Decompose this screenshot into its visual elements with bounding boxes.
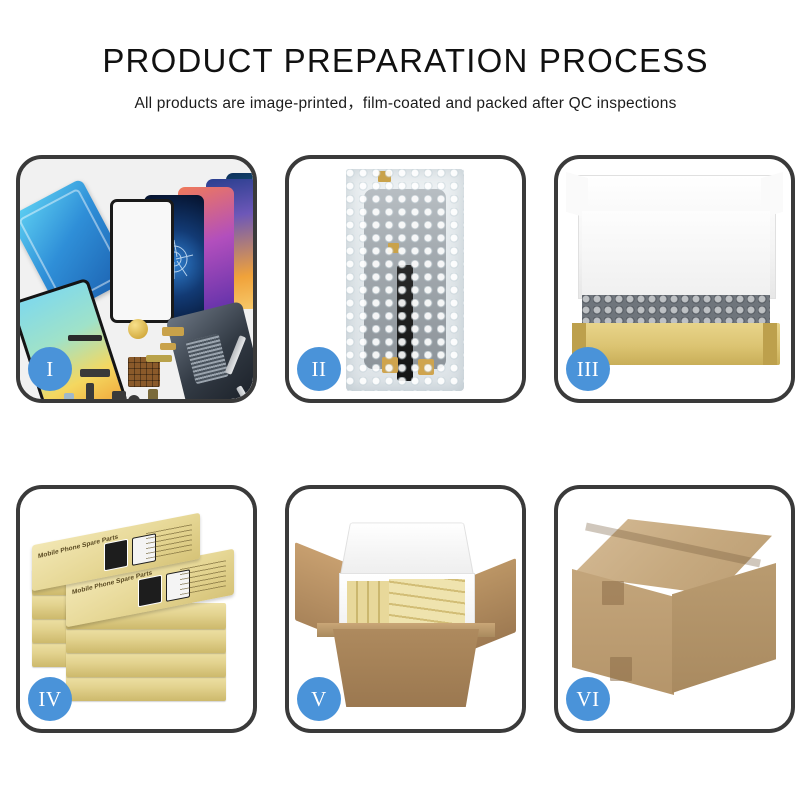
- process-step-panel-2: II: [285, 155, 526, 403]
- stacked-box-f2: [66, 651, 226, 677]
- battery-connector-part: [148, 389, 158, 399]
- white-foam-sheet: [582, 211, 770, 295]
- earpiece-part: [68, 335, 102, 341]
- header: PRODUCT PREPARATION PROCESS All products…: [0, 0, 811, 113]
- product-preparation-infographic: PRODUCT PREPARATION PROCESS All products…: [0, 0, 811, 811]
- gold-speaker-part: [128, 319, 148, 339]
- lid-spec-lines-front: [180, 558, 226, 595]
- white-glass-panel: [110, 199, 174, 323]
- step-badge-4: IV: [28, 677, 72, 721]
- step-badge-1: I: [28, 347, 72, 391]
- flex-connector-part-1: [162, 327, 184, 336]
- bubble-texture: [346, 169, 464, 391]
- process-step-panel-5: V: [285, 485, 526, 733]
- bubble-wrap-bag: [346, 169, 464, 391]
- stacked-box-f1: [66, 675, 226, 701]
- process-step-panel-6: VI: [554, 485, 795, 733]
- process-step-panel-3: III: [554, 155, 795, 403]
- step-badge-2: II: [297, 347, 341, 391]
- lid-spec-lines-back: [146, 522, 192, 559]
- step-badge-3: III: [566, 347, 610, 391]
- flex-connector-part-2: [160, 343, 176, 350]
- carton-tape-lower: [610, 657, 632, 681]
- camera-module-part: [112, 391, 126, 399]
- tray-end-right: [763, 323, 777, 365]
- process-steps-grid: I II: [16, 155, 795, 733]
- flex-cable-part-2: [86, 383, 94, 399]
- stacked-box-f3: [66, 627, 226, 653]
- foam-lid: [339, 523, 475, 581]
- lid-phone-image-a: [138, 575, 162, 608]
- lid-phone-image-c: [104, 539, 128, 572]
- page-subtitle: All products are image-printed，film-coat…: [0, 91, 811, 113]
- lens-part: [128, 395, 140, 399]
- sim-tray-part: [64, 393, 74, 399]
- step-badge-6: VI: [566, 677, 610, 721]
- antenna-flex-part: [146, 355, 172, 362]
- process-step-panel-4: Mobile Phone Spare Parts Mobile Phone Sp…: [16, 485, 257, 733]
- flex-cable-part-1: [80, 369, 110, 377]
- box-stack: Mobile Phone Spare Parts Mobile Phone Sp…: [32, 513, 246, 709]
- yellow-boxes-row-2: [389, 579, 465, 625]
- page-title: PRODUCT PREPARATION PROCESS: [0, 44, 811, 77]
- step-badge-5: V: [297, 677, 341, 721]
- process-step-panel-1: I: [16, 155, 257, 403]
- carton-tape-upper: [602, 581, 624, 605]
- carton-body: [323, 629, 489, 707]
